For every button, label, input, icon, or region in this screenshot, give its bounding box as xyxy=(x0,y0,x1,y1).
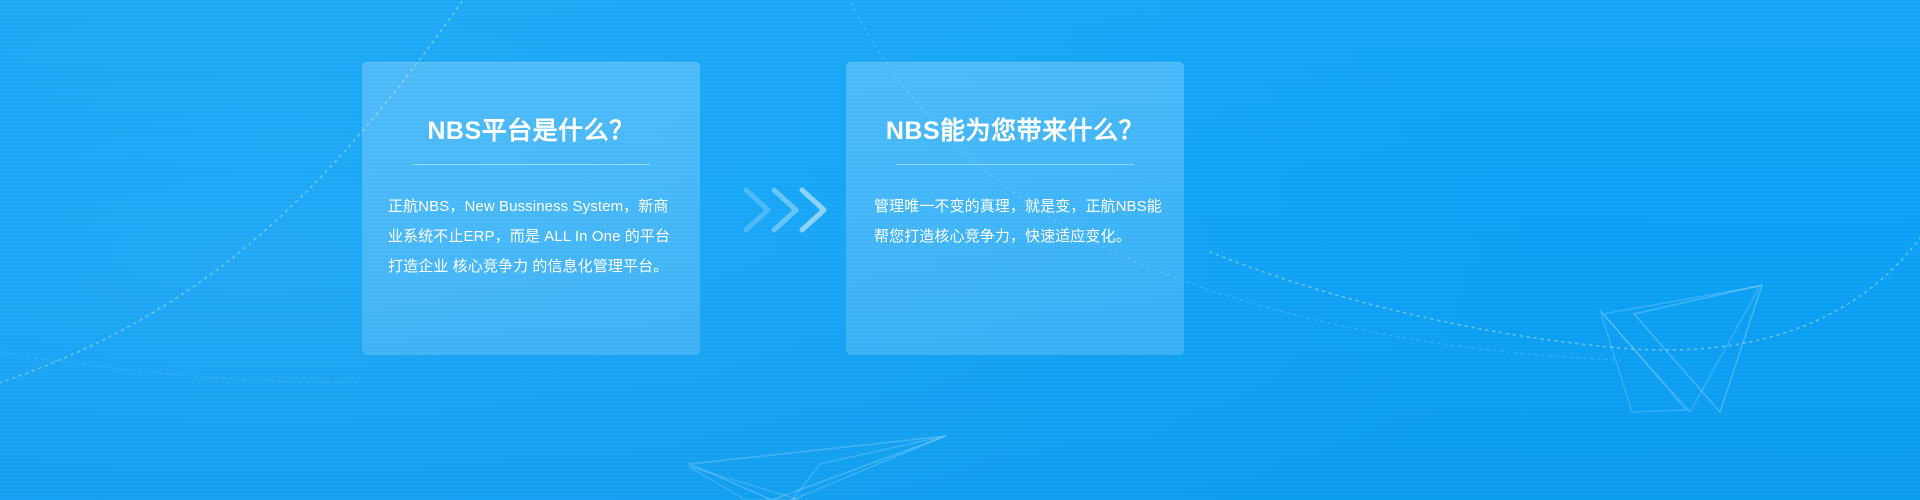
card-body-text: 正航NBS，New Bussiness System，新商业系统不止ERP，而是… xyxy=(388,192,676,282)
double-chevron-right-icon xyxy=(740,182,842,238)
outline-triangle-icon xyxy=(1634,285,1762,412)
chevron-right-icon xyxy=(774,190,796,230)
card-divider xyxy=(412,164,650,165)
outline-triangle-icon xyxy=(688,466,800,500)
dotted-curve-icon xyxy=(1210,238,1920,350)
card-title: NBS能为您带来什么？ xyxy=(846,118,1184,146)
chevron-right-icon xyxy=(802,190,824,230)
card-what-is-nbs[interactable]: NBS平台是什么？ 正航NBS，New Bussiness System，新商业… xyxy=(362,62,700,355)
dotted-curve-icon xyxy=(0,352,360,382)
outline-triangle-icon xyxy=(690,436,946,500)
outline-triangle-icon xyxy=(792,436,945,500)
card-body-text: 管理唯一不变的真理，就是变，正航NBS能帮您打造核心竞争力，快速适应变化。 xyxy=(874,192,1162,252)
card-title: NBS平台是什么？ xyxy=(362,118,700,146)
card-divider xyxy=(896,164,1134,165)
banner-stage: NBS平台是什么？ 正航NBS，New Bussiness System，新商业… xyxy=(0,0,1920,500)
outline-triangle-icon xyxy=(1600,310,1686,412)
card-what-nbs-brings[interactable]: NBS能为您带来什么？ 管理唯一不变的真理，就是变，正航NBS能帮您打造核心竞争… xyxy=(846,62,1184,355)
outline-triangle-icon xyxy=(1603,286,1760,412)
chevron-right-icon xyxy=(746,190,768,230)
